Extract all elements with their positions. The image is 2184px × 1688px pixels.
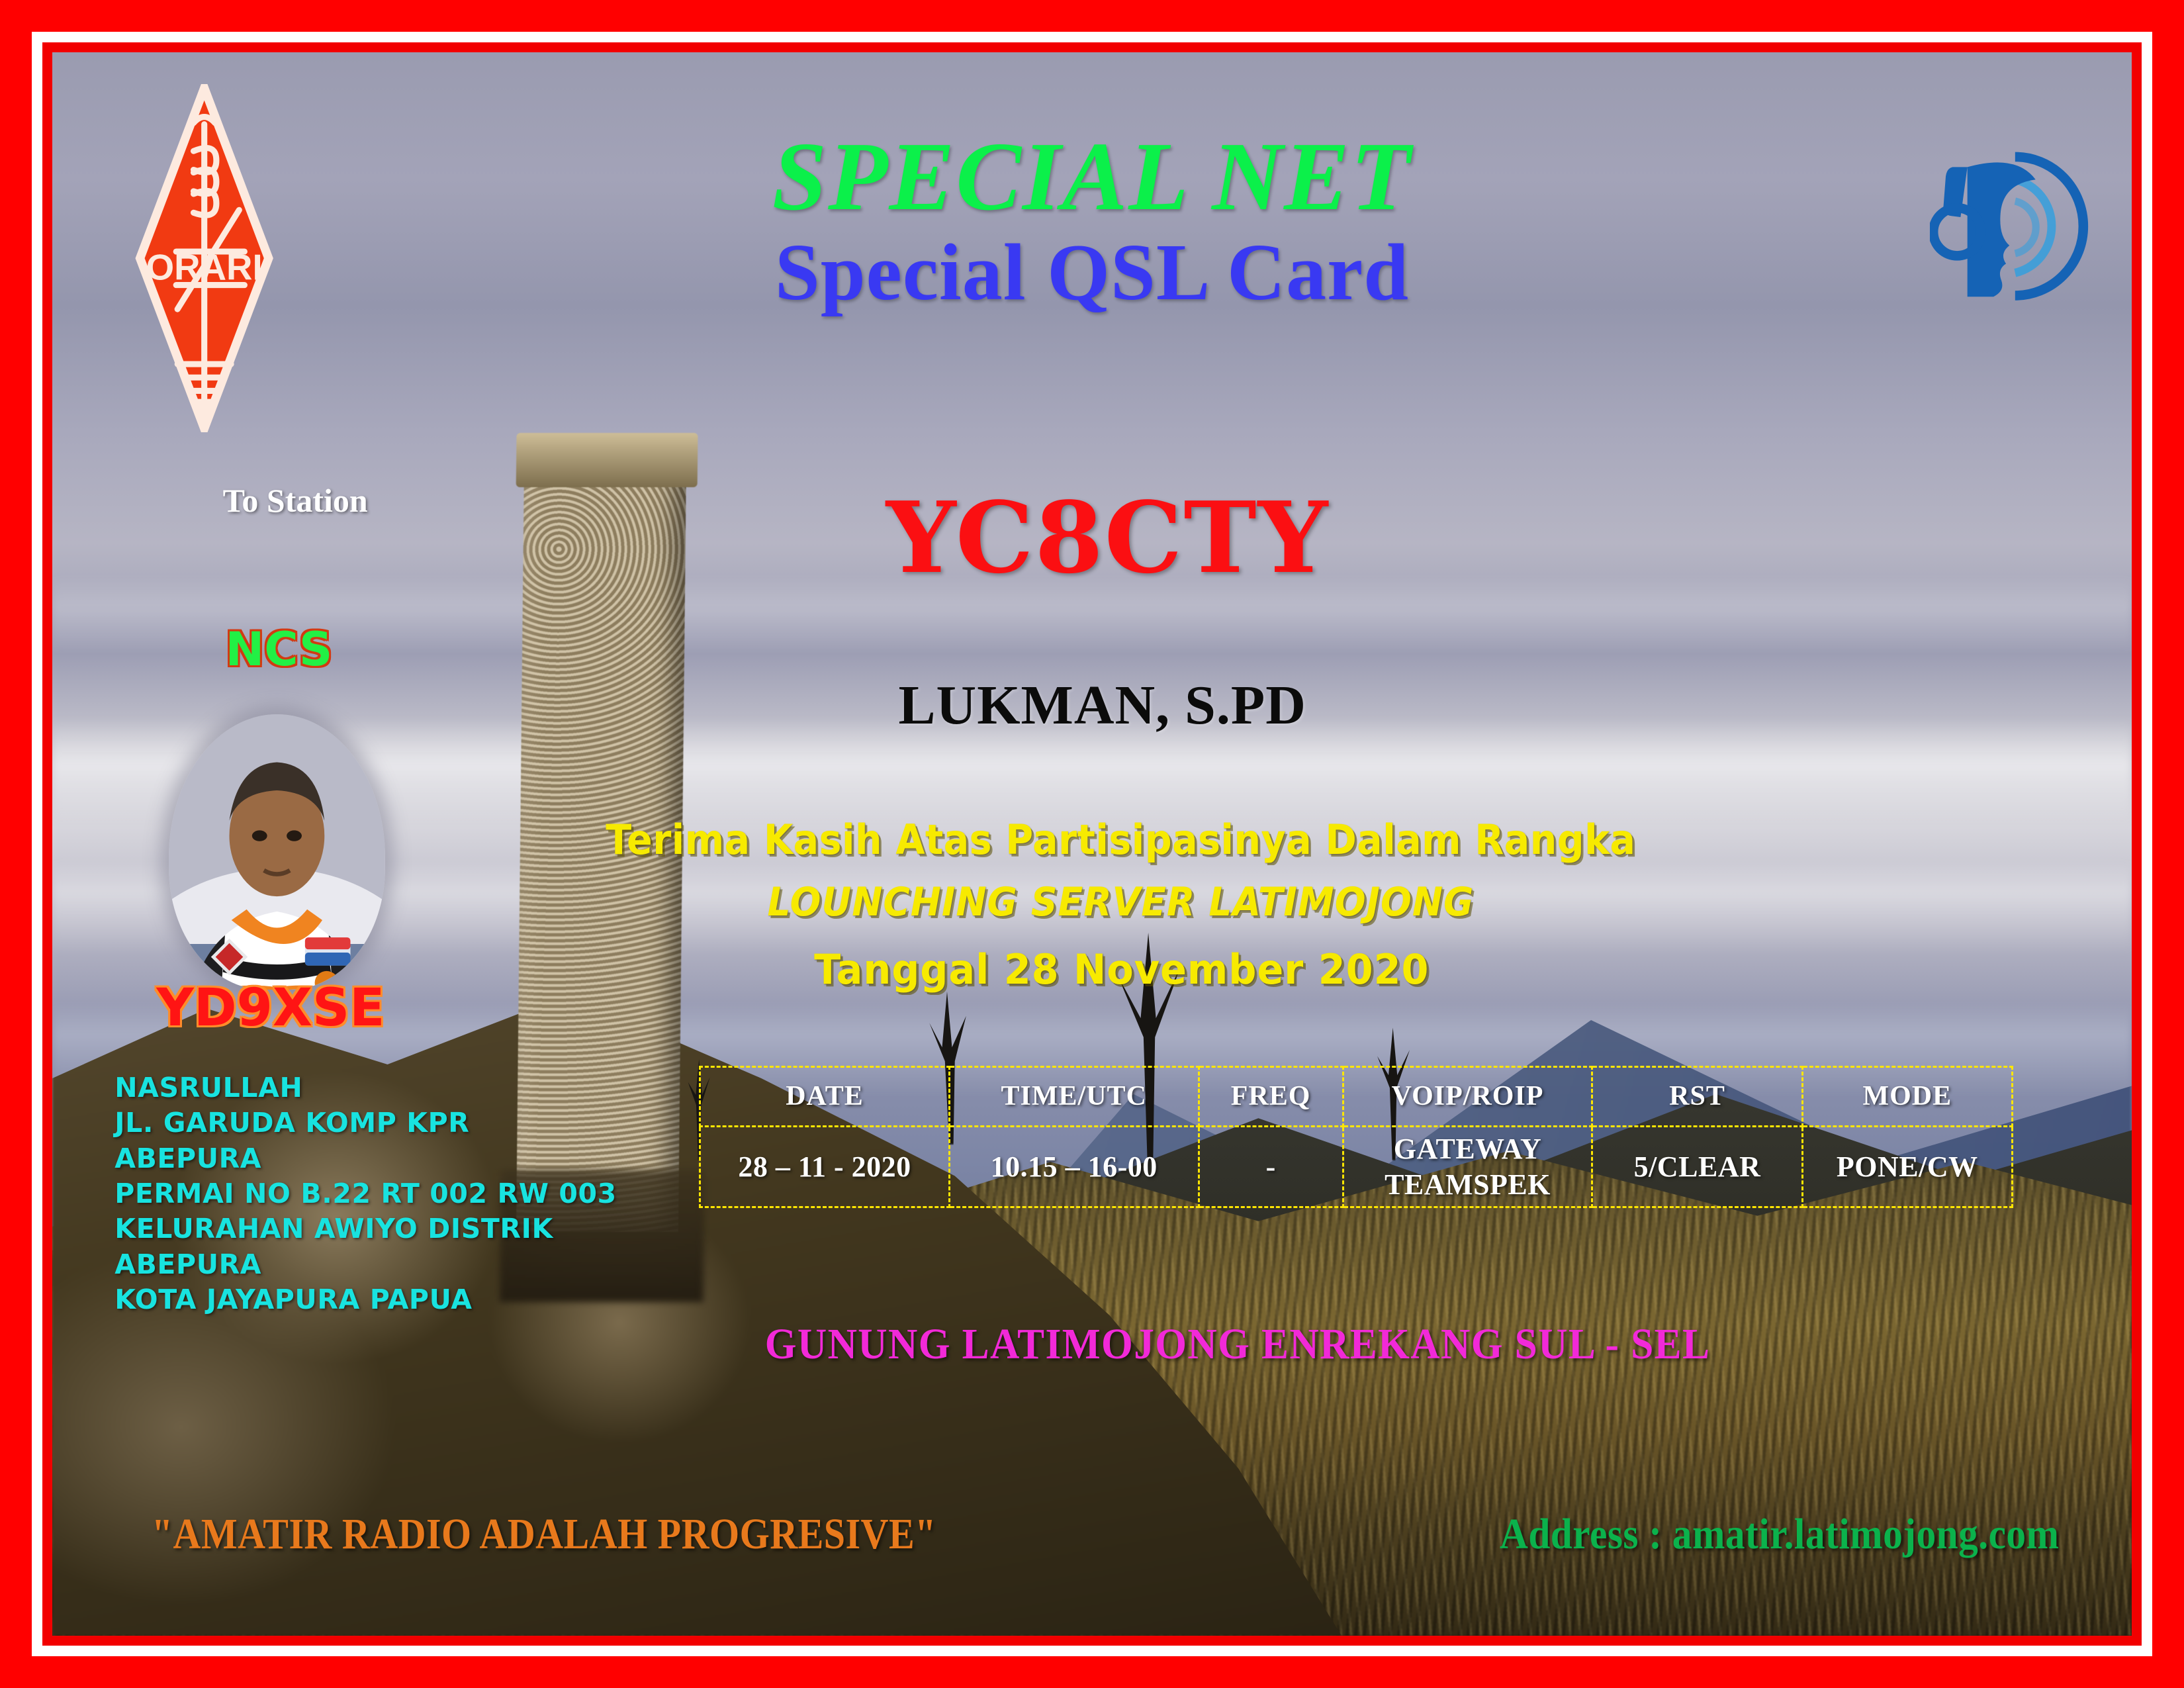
location-caption: GUNUNG LATIMOJONG ENREKANG SUL - SEL [638,1319,1837,1370]
footer-web-address: Address : amatir.latimojong.com [1500,1509,2059,1560]
operator-name: LUKMAN, S.PD [52,673,2132,737]
footer-motto: "AMATIR RADIO ADALAH PROGRESIVE" [152,1509,936,1560]
cell-freq: - [1199,1126,1343,1207]
card-photo-background: ORARI SPECIAL NET Special [52,52,2132,1636]
qsl-card: ORARI SPECIAL NET Special [0,0,2184,1688]
column-header-voip: VOIP/ROIP [1343,1066,1592,1126]
thanks-line-1: Terima Kasih Atas Partisipasinya Dalam R… [136,816,2049,864]
cell-voip: GATEWAY TEAMSPEK [1343,1126,1592,1207]
column-header-rst: RST [1592,1066,1802,1126]
address-line: KELURAHAN AWIYO DISTRIK [114,1211,780,1246]
station-callsign: YC8CTY [52,480,2132,595]
ncs-label: NCS [165,622,394,677]
cell-mode: PONE/CW [1802,1126,2012,1207]
address-line: NASRULLAH [114,1070,780,1105]
address-line: JL. GARUDA KOMP KPR [114,1105,780,1141]
table-header-row: DATE TIME/UTC FREQ VOIP/ROIP RST MODE [700,1066,2013,1126]
address-line: PERMAI NO B.22 RT 002 RW 003 [114,1176,780,1211]
qso-log-table: DATE TIME/UTC FREQ VOIP/ROIP RST MODE 28… [699,1066,2013,1208]
card-inner-red-border: ORARI SPECIAL NET Special [42,42,2142,1646]
ncs-callsign: YD9XSE [114,978,426,1038]
thanks-line-2: LOUNCHING SERVER LATIMOJONG [136,879,2049,925]
card-white-gap: ORARI SPECIAL NET Special [32,32,2152,1656]
cell-rst: 5/CLEAR [1592,1126,1802,1207]
page-subtitle: Special QSL Card [52,226,2132,319]
ncs-operator-photo [169,714,385,990]
column-header-time: TIME/UTC [949,1066,1199,1126]
address-line: KOTA JAYAPURA PAPUA [114,1282,780,1317]
address-line: ABEPURA [114,1247,780,1282]
page-title: SPECIAL NET [52,120,2132,233]
operator-portrait-image [169,714,385,990]
cell-time: 10.15 – 16-00 [949,1126,1199,1207]
mailing-address: NASRULLAH JL. GARUDA KOMP KPR ABEPURA PE… [114,1070,780,1317]
address-line: ABEPURA [114,1141,780,1176]
table-row: 28 – 11 - 2020 10.15 – 16-00 - GATEWAY T… [700,1126,2013,1207]
column-header-date: DATE [700,1066,950,1126]
column-header-freq: FREQ [1199,1066,1343,1126]
cell-date: 28 – 11 - 2020 [700,1126,950,1207]
column-header-mode: MODE [1802,1066,2012,1126]
